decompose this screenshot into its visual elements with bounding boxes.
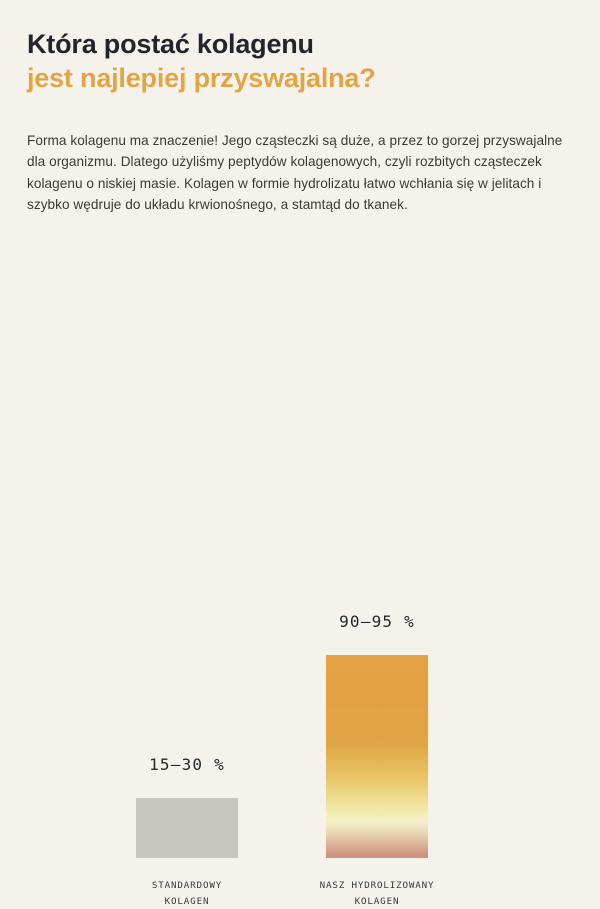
bar-caption-standard-line1: STANDARDOWY — [117, 878, 257, 894]
bar-value-label-standard: 15–30 % — [117, 755, 257, 774]
bar-caption-hydrolyzed: NASZ HYDROLIZOWANY KOLAGEN — [307, 878, 447, 909]
headline-line-primary: Która postać kolagenu — [27, 27, 573, 61]
infographic-card: Która postać kolagenu jest najlepiej prz… — [0, 0, 600, 600]
bar-standard-collagen — [136, 798, 238, 858]
bar-caption-hydrolyzed-line1: NASZ HYDROLIZOWANY — [307, 878, 447, 894]
headline-line-accent: jest najlepiej przyswajalna? — [27, 61, 573, 95]
bar-caption-standard: STANDARDOWY KOLAGEN — [117, 878, 257, 909]
page-title: Która postać kolagenu jest najlepiej prz… — [27, 27, 573, 95]
body-copy: Forma kolagenu ma znaczenie! Jego cząste… — [27, 130, 567, 216]
bar-caption-hydrolyzed-line2: KOLAGEN — [307, 894, 447, 909]
absorption-bar-chart: 15–30 % STANDARDOWY KOLAGEN 90–95 % NASZ… — [0, 255, 600, 600]
bar-hydrolyzed-collagen — [326, 655, 428, 858]
bar-value-label-hydrolyzed: 90–95 % — [307, 612, 447, 631]
bar-caption-standard-line2: KOLAGEN — [117, 894, 257, 909]
body-paragraph: Forma kolagenu ma znaczenie! Jego cząste… — [27, 130, 567, 216]
